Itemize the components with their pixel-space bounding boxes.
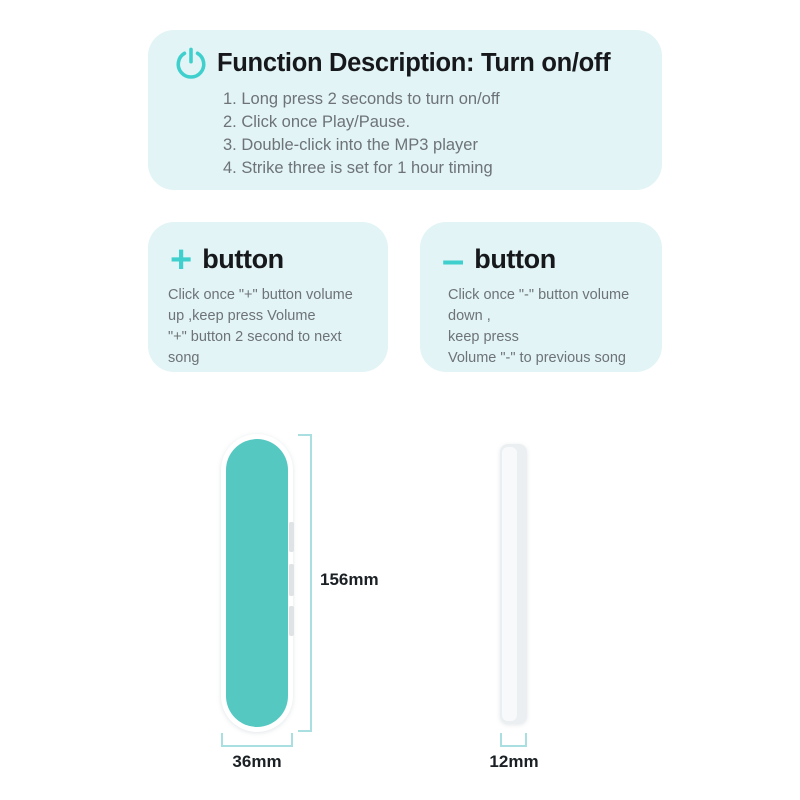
plus-button-card: + button Click once "+" button volume up… bbox=[148, 222, 388, 372]
list-item: 4. Strike three is set for 1 hour timing bbox=[168, 157, 640, 180]
product-dimension-diagram: 156mm 36mm 12mm bbox=[0, 400, 800, 800]
function-description-card: Function Description: Turn on/off 1. Lon… bbox=[148, 30, 662, 190]
height-dimension-label: 156mm bbox=[320, 570, 379, 590]
device-side-button-plus bbox=[289, 564, 294, 596]
device-side-button-power bbox=[289, 522, 294, 552]
plus-card-title: button bbox=[202, 244, 284, 275]
height-guide-tick-bottom bbox=[298, 730, 312, 732]
list-item: 2. Click once Play/Pause. bbox=[168, 111, 640, 134]
minus-button-card: – button Click once "-" button volume do… bbox=[420, 222, 662, 372]
list-item: 3. Double-click into the MP3 player bbox=[168, 134, 640, 157]
page-title: Function Description: Turn on/off bbox=[217, 49, 610, 78]
device-side-button-minus bbox=[289, 606, 294, 636]
device-side-view bbox=[500, 444, 527, 724]
minus-card-description: Click once "-" button volume down , keep… bbox=[436, 285, 646, 369]
width-dimension-label: 36mm bbox=[221, 752, 293, 772]
device-front-view bbox=[221, 434, 293, 732]
list-item: 1. Long press 2 seconds to turn on/off bbox=[168, 88, 640, 111]
power-icon bbox=[174, 46, 208, 80]
plus-card-description: Click once "+" button volume up ,keep pr… bbox=[164, 285, 372, 369]
depth-guide-line bbox=[500, 745, 527, 747]
function-step-list: 1. Long press 2 seconds to turn on/off 2… bbox=[168, 88, 640, 180]
minus-card-title: button bbox=[474, 244, 556, 275]
width-guide-tick-left bbox=[221, 733, 223, 747]
height-guide-line bbox=[310, 434, 312, 732]
device-side-highlight bbox=[502, 447, 517, 721]
plus-card-header: + button bbox=[164, 244, 372, 275]
device-front-body bbox=[226, 439, 288, 727]
depth-guide-tick-left bbox=[500, 733, 502, 747]
plus-sign-icon: + bbox=[170, 245, 192, 275]
width-guide-line bbox=[221, 745, 293, 747]
width-guide-tick-right bbox=[291, 733, 293, 747]
minus-sign-icon: – bbox=[442, 245, 464, 275]
height-guide-tick-top bbox=[298, 434, 312, 436]
minus-card-header: – button bbox=[436, 244, 646, 275]
depth-dimension-label: 12mm bbox=[478, 752, 550, 772]
function-card-header: Function Description: Turn on/off bbox=[174, 46, 640, 80]
depth-guide-tick-right bbox=[525, 733, 527, 747]
